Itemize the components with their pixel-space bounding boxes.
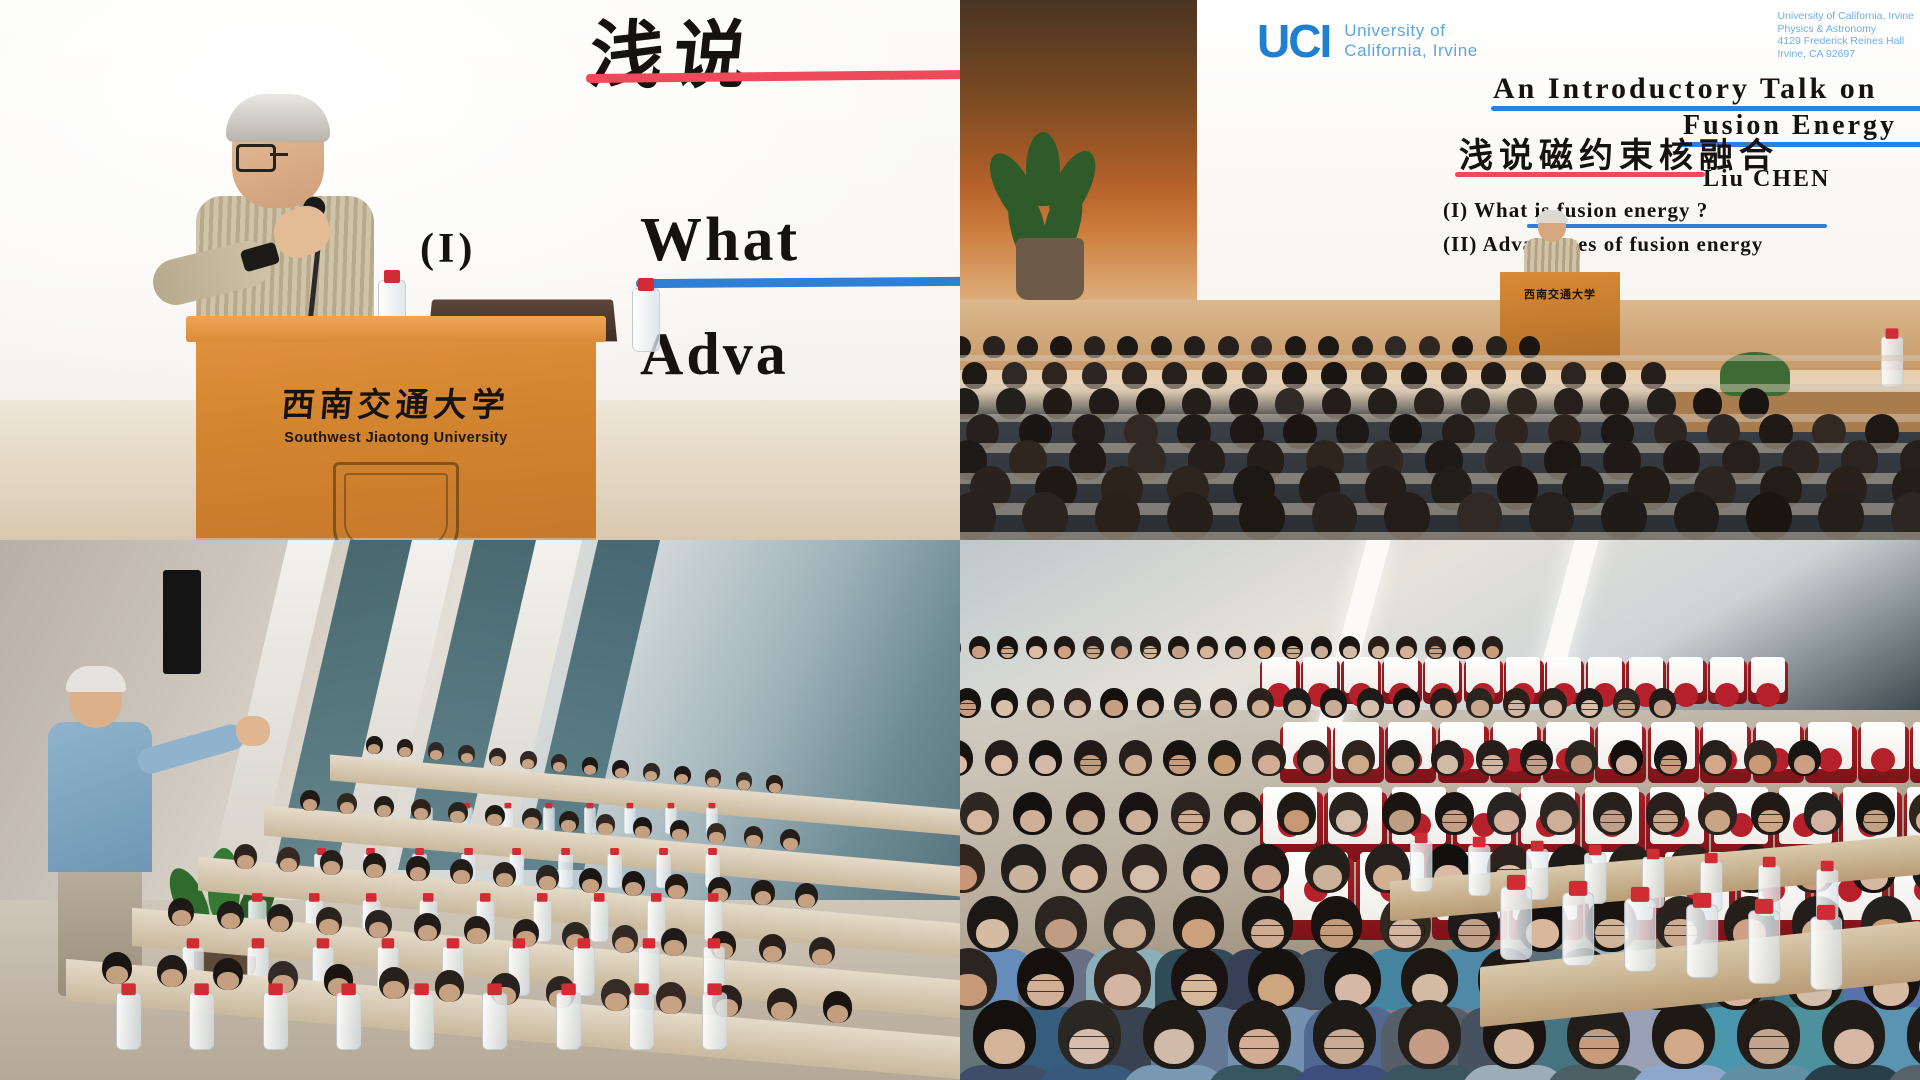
audience-face <box>827 1005 849 1023</box>
address-line-4: Irvine, CA 92697 <box>1777 48 1914 61</box>
water-bottle-icon <box>558 853 573 888</box>
water-bottle-icon <box>607 853 622 888</box>
audience-face <box>1284 810 1309 832</box>
eyeglasses-icon <box>1143 648 1160 654</box>
slide-item-1-text: What is fusion energy ? <box>1474 198 1708 222</box>
water-bottle-icon <box>1748 910 1780 984</box>
glasses-icon <box>236 144 322 166</box>
audience-face <box>414 808 429 820</box>
audience-face <box>491 756 503 766</box>
audience-face <box>539 876 556 890</box>
audience-face <box>323 861 340 875</box>
audience-face <box>453 870 470 884</box>
audience-face <box>1252 700 1269 715</box>
eyeglasses-icon <box>1079 759 1104 767</box>
audience-face <box>369 922 388 938</box>
photo-collage: 浅说 (I) What Adva 西南交通大学 Southwest Jiaoto… <box>0 0 1920 1080</box>
audience-face <box>1313 865 1342 890</box>
audience-face <box>1252 865 1281 890</box>
whiteboard-cjk-title: 浅说 <box>584 0 763 103</box>
audience-face <box>439 984 461 1002</box>
audience-face <box>1113 919 1146 948</box>
university-name-cn-small: 西南交通大学 <box>1500 286 1620 302</box>
audience-face <box>1215 700 1232 715</box>
audience-face <box>1125 755 1146 774</box>
audience-face <box>1547 810 1572 832</box>
lectern: 西南交通大学 Southwest Jiaotong University <box>196 330 596 540</box>
audience-face <box>769 783 781 793</box>
audience-face <box>798 894 815 908</box>
audience-face <box>1749 755 1770 774</box>
water-bottle-icon <box>1686 904 1718 978</box>
audience-face <box>1029 646 1043 658</box>
audience-face <box>1348 755 1369 774</box>
audience-face <box>1494 1029 1534 1065</box>
audience-face <box>1142 700 1159 715</box>
audience-face <box>161 969 183 987</box>
audience-face <box>1200 646 1214 658</box>
water-bottle-icon <box>629 992 654 1050</box>
audience-face <box>1105 700 1122 715</box>
audience-face <box>1182 919 1215 948</box>
audience-face <box>280 858 297 872</box>
panel-speaker-podium: 浅说 (I) What Adva 西南交通大学 Southwest Jiaoto… <box>0 0 960 540</box>
whiteboard-section-1-marker: (I) <box>420 225 476 273</box>
audience-face <box>1009 865 1038 890</box>
eyeglasses-icon <box>1250 925 1288 936</box>
audience-face <box>1303 755 1324 774</box>
audience-face <box>672 829 687 841</box>
potted-plant-icon <box>990 130 1110 300</box>
university-name-en: Southwest Jiaotong University <box>196 430 596 446</box>
eyeglasses-icon <box>1863 814 1892 823</box>
audience-face <box>487 814 502 826</box>
water-bottle-icon <box>482 992 507 1050</box>
water-bottle-icon <box>556 992 581 1050</box>
seat-cover-with-logo <box>1861 722 1905 769</box>
slide-item-1-marker: (I) <box>1443 198 1468 222</box>
eyeglasses-icon <box>1388 925 1426 936</box>
seat-row-back <box>960 532 1920 540</box>
audience-face <box>1191 865 1220 890</box>
audience-face <box>1409 1029 1449 1065</box>
audience-face <box>1325 700 1342 715</box>
water-bottle-icon <box>702 992 727 1050</box>
eyeglasses-icon <box>1286 648 1303 654</box>
eyeglasses-icon <box>1238 1036 1284 1049</box>
audience-face <box>1069 700 1086 715</box>
water-bottle-icon <box>336 992 361 1050</box>
eyeglasses-icon <box>1086 648 1103 654</box>
slide-item-2-marker: (II) <box>1443 232 1477 256</box>
audience-face <box>598 823 613 835</box>
water-bottle-icon <box>1810 916 1842 990</box>
audience-face <box>1035 755 1056 774</box>
audience-face <box>561 820 576 832</box>
slide-item-2: (II) Advantages of fusion energy <box>1443 232 1763 257</box>
audience-face <box>1794 755 1815 774</box>
water-bottle-icon <box>584 807 596 834</box>
audience-face <box>605 993 627 1011</box>
university-crest-icon <box>333 462 459 540</box>
audience-face <box>676 774 688 784</box>
audience-face <box>399 747 411 757</box>
water-bottle-icon <box>263 992 288 1050</box>
audience-face <box>1664 1029 1704 1065</box>
seat-cover-with-logo <box>1384 657 1418 693</box>
audience-face <box>303 799 318 811</box>
audience-face <box>383 981 405 999</box>
slide-title-line-1: An Introductory Talk on <box>1493 72 1877 106</box>
audience-face <box>1392 755 1413 774</box>
eyeglasses-icon <box>1660 759 1685 767</box>
water-bottle-icon <box>1410 841 1432 892</box>
audience-face <box>1494 810 1519 832</box>
audience-face <box>812 949 831 965</box>
eyeglasses-icon <box>1319 925 1357 936</box>
audience-face <box>996 700 1013 715</box>
eyeglasses-icon <box>1526 759 1551 767</box>
audience-face <box>1258 755 1279 774</box>
audience-face <box>172 910 191 926</box>
audience-face <box>410 867 427 881</box>
audience-face <box>1343 646 1357 658</box>
eyeglasses-icon <box>1441 814 1470 823</box>
audience-face <box>1070 865 1099 890</box>
audience-face <box>1229 646 1243 658</box>
eyeglasses-icon <box>1481 759 1506 767</box>
panel-hall-wide: UCI University of California, Irvine Uni… <box>960 0 1920 540</box>
eyeglasses-icon <box>1000 648 1017 654</box>
uci-logo-sub-line1: University of <box>1344 21 1445 40</box>
water-bottle-icon <box>116 992 141 1050</box>
whiteboard-section-1-text: What <box>640 205 800 276</box>
audience-face <box>1361 700 1378 715</box>
audience-face <box>1032 700 1049 715</box>
audience-face <box>1020 810 1045 832</box>
water-bottle-icon <box>590 900 608 942</box>
eyeglasses-icon <box>1617 703 1638 710</box>
audience-face <box>467 928 486 944</box>
audience-face <box>1544 700 1561 715</box>
audience-face <box>1372 646 1386 658</box>
eyeglasses-icon <box>1068 1036 1114 1049</box>
eyeglasses-icon <box>1428 648 1445 654</box>
audience-face <box>1471 700 1488 715</box>
audience-face <box>783 838 798 850</box>
lectern-top <box>186 316 606 342</box>
audience-face <box>1045 919 1078 948</box>
university-name-cn: 西南交通大学 <box>194 378 598 426</box>
audience-face <box>1073 810 1098 832</box>
seat-cover-with-logo <box>1913 722 1920 769</box>
audience-rows <box>960 330 1920 540</box>
audience-face <box>319 919 338 935</box>
eyeglasses-icon <box>1026 980 1068 992</box>
water-bottle-icon <box>632 288 660 352</box>
audience-face <box>430 750 442 760</box>
audience-face <box>645 771 657 781</box>
uci-logo-mark: UCI <box>1257 14 1330 68</box>
seat-cover-with-logo <box>1669 657 1703 693</box>
eyeglasses-icon <box>1180 980 1222 992</box>
eyeglasses-icon <box>1580 703 1601 710</box>
audience-face <box>340 802 355 814</box>
seat-cover-with-logo <box>1506 657 1540 693</box>
eyeglasses-icon <box>1177 814 1206 823</box>
seat-cover-with-logo <box>1629 657 1663 693</box>
lectern-sign: 西南交通大学 Southwest Jiaotong University <box>196 378 596 446</box>
audience-face <box>707 777 719 787</box>
audience-face <box>1389 810 1414 832</box>
audience-face <box>660 996 682 1014</box>
audience-face <box>972 646 986 658</box>
audience-face <box>1214 755 1235 774</box>
water-bottle-icon <box>1468 845 1490 896</box>
water-bottle-icon <box>409 992 434 1050</box>
audience-face <box>709 832 724 844</box>
audience-face <box>1834 1029 1874 1065</box>
audience-face <box>615 768 627 778</box>
audience-face <box>106 966 128 984</box>
eyeglasses-icon <box>1168 759 1193 767</box>
audience-face <box>1058 646 1072 658</box>
audience-face <box>668 885 685 899</box>
audience-face <box>1811 810 1836 832</box>
seat-row-back <box>960 355 1920 361</box>
address-line-1: University of California, Irvine <box>1777 10 1914 23</box>
audience-face <box>1435 700 1452 715</box>
address-line-3: 4129 Frederick Reines Hall <box>1777 35 1914 48</box>
slide-underline-3 <box>1455 172 1705 177</box>
audience-face <box>976 919 1009 948</box>
eyeglasses-icon <box>1757 814 1786 823</box>
audience-face <box>237 855 254 869</box>
seat-cover-with-logo <box>1262 657 1296 693</box>
audience-face <box>1398 700 1415 715</box>
audience-face <box>1115 646 1129 658</box>
eyeglasses-icon <box>1178 703 1199 710</box>
uci-logo-subtitle: University of California, Irvine <box>1344 21 1478 61</box>
eyeglasses-icon <box>1507 703 1528 710</box>
audience-face <box>991 755 1012 774</box>
eyeglasses-icon <box>1323 1036 1369 1049</box>
audience-face <box>1400 646 1414 658</box>
audience-face <box>1315 646 1329 658</box>
audience-face <box>1457 646 1471 658</box>
eyeglasses-icon <box>1599 814 1628 823</box>
audience-face <box>1336 810 1361 832</box>
audience-face <box>1231 810 1256 832</box>
audience-face <box>1437 755 1458 774</box>
address-line-2: Physics & Astronomy <box>1777 23 1914 36</box>
panel-audience <box>960 540 1920 1080</box>
uci-address-block: University of California, Irvine Physics… <box>1777 10 1914 60</box>
audience-face <box>221 913 240 929</box>
panel-side-view <box>0 540 960 1080</box>
eyeglasses-icon <box>1652 814 1681 823</box>
audience-face <box>1258 646 1272 658</box>
audience-face <box>1571 755 1592 774</box>
audience-face <box>553 762 565 772</box>
audience-face <box>377 805 392 817</box>
audience-face <box>450 811 465 823</box>
eyeglasses-icon <box>1578 1036 1624 1049</box>
audience-face <box>967 810 992 832</box>
audience-face <box>1705 810 1730 832</box>
audience-face <box>1705 755 1726 774</box>
audience-face <box>1654 700 1671 715</box>
eyeglasses-icon <box>1457 925 1495 936</box>
audience-face <box>1616 755 1637 774</box>
audience-face <box>1172 646 1186 658</box>
audience-face <box>584 765 596 775</box>
water-bottle-icon <box>573 946 595 996</box>
audience-face <box>496 873 513 887</box>
uci-logo-sub-line2: California, Irvine <box>1344 41 1478 60</box>
water-bottle-icon <box>189 992 214 1050</box>
audience-face <box>461 753 473 763</box>
slide-author: Liu CHEN <box>1703 166 1830 193</box>
audience-face <box>522 759 534 769</box>
audience-face <box>368 744 380 754</box>
audience-face <box>635 826 650 838</box>
audience-face <box>664 940 683 956</box>
uci-logo: UCI University of California, Irvine <box>1257 14 1478 68</box>
loudspeaker-icon <box>163 570 201 674</box>
audience-face <box>625 882 642 896</box>
water-bottle-icon <box>1562 892 1594 966</box>
audience-face <box>1288 700 1305 715</box>
eyeglasses-icon <box>960 703 980 710</box>
audience-face <box>1486 646 1500 658</box>
audience-face <box>1104 974 1141 1006</box>
speaker-hair <box>226 94 330 142</box>
audience-face <box>1126 810 1151 832</box>
whiteboard-section-2-text: Adva <box>640 320 789 389</box>
audience-face <box>746 835 761 847</box>
audience-face <box>771 1002 793 1020</box>
audience-face <box>738 780 750 790</box>
audience-face <box>755 891 772 905</box>
eyeglasses-icon <box>1747 1036 1793 1049</box>
audience-face <box>217 972 239 990</box>
water-bottle-icon <box>1500 886 1532 960</box>
audience-face <box>984 1029 1024 1065</box>
water-bottle-icon <box>1624 898 1656 972</box>
audience-face <box>366 864 383 878</box>
seat-cover-with-logo <box>1751 657 1785 693</box>
audience-face <box>524 817 539 829</box>
seat-cover-with-logo <box>1710 657 1744 693</box>
audience-face <box>1130 865 1159 890</box>
audience-face <box>582 879 599 893</box>
